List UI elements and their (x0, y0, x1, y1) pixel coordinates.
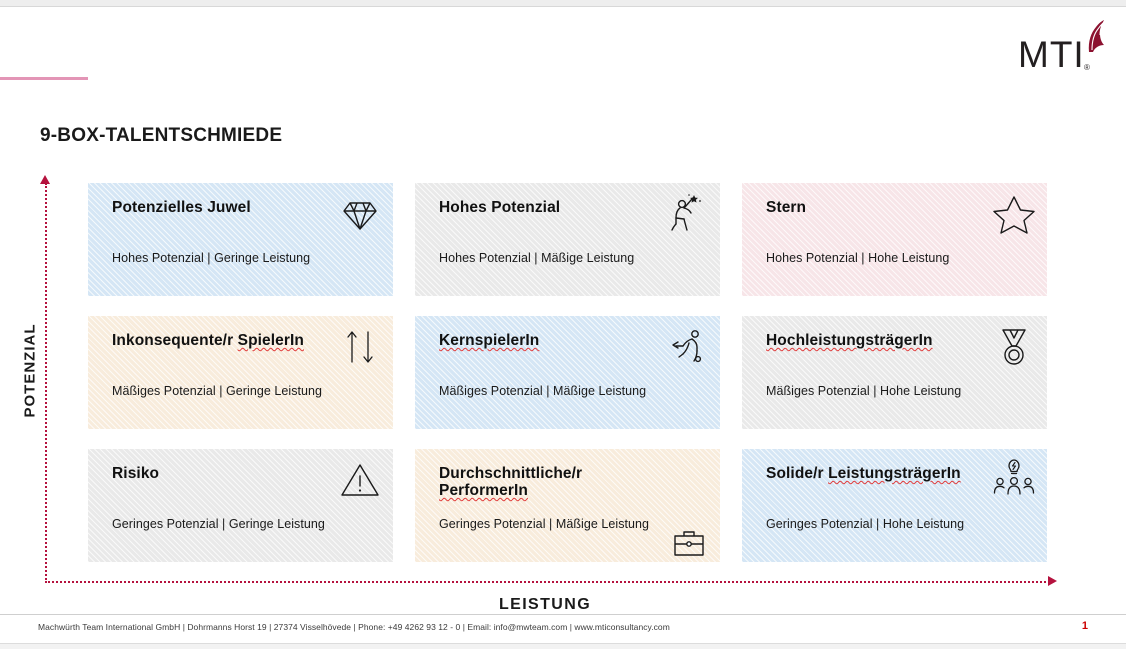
logo-wordmark: MTI (1018, 36, 1085, 73)
box-subtitle: Hohes Potenzial | Geringe Leistung (112, 251, 310, 265)
window-bottom-strip (0, 643, 1126, 649)
window-top-strip (0, 0, 1126, 7)
accent-rule (0, 77, 88, 80)
box-title-misspelled: PerformerIn (439, 482, 528, 499)
box-hohes-potenzial[interactable]: Hohes Potenzial Hohes Potenzial | Mäßige… (415, 183, 720, 296)
x-axis-label: LEISTUNG (0, 596, 1090, 614)
box-subtitle: Geringes Potenzial | Mäßige Leistung (439, 517, 649, 531)
page-title: 9-BOX-TALENTSCHMIEDE (40, 125, 282, 147)
box-title-misspelled: LeistungsträgerIn (828, 465, 961, 482)
box-subtitle: Hohes Potenzial | Mäßige Leistung (439, 251, 634, 265)
box-title-plain: Durchschnittliche/r (439, 465, 582, 482)
box-inkonsequente-spielerin[interactable]: Inkonsequente/r SpielerIn Mäßiges Potenz… (88, 316, 393, 429)
box-subtitle: Geringes Potenzial | Geringe Leistung (112, 517, 325, 531)
star-icon (991, 191, 1037, 237)
box-kernspielerin[interactable]: KernspielerIn Mäßiges Potenzial | Mäßige… (415, 316, 720, 429)
x-axis-arrow-icon (1048, 576, 1057, 586)
box-title: Hohes Potenzial (439, 199, 669, 216)
box-title: Risiko (112, 465, 342, 482)
box-subtitle: Geringes Potenzial | Hohe Leistung (766, 517, 964, 531)
footer-divider (0, 614, 1126, 615)
up-down-arrows-icon (337, 324, 383, 370)
box-subtitle: Mäßiges Potenzial | Mäßige Leistung (439, 384, 646, 398)
box-title: KernspielerIn (439, 332, 669, 349)
y-axis-label: POTENZIAL (22, 321, 39, 421)
box-subtitle: Hohes Potenzial | Hohe Leistung (766, 251, 949, 265)
briefcase-icon (672, 526, 706, 560)
box-potenzielles-juwel[interactable]: Potenzielles Juwel Hohes Potenzial | Ger… (88, 183, 393, 296)
box-title-misspelled: SpielerIn (238, 332, 304, 349)
diamond-icon (337, 191, 383, 237)
logo-swoosh-icon (1082, 19, 1108, 53)
box-stern[interactable]: Stern Hohes Potenzial | Hohe Leistung (742, 183, 1047, 296)
box-durchschnittliche-performerin[interactable]: Durchschnittliche/r PerformerIn Geringes… (415, 449, 720, 562)
nine-box-grid: Potenzielles Juwel Hohes Potenzial | Ger… (88, 183, 1048, 562)
box-subtitle: Mäßiges Potenzial | Geringe Leistung (112, 384, 322, 398)
box-risiko[interactable]: Risiko Geringes Potenzial | Geringe Leis… (88, 449, 393, 562)
box-title: Durchschnittliche/r PerformerIn (439, 465, 669, 499)
team-lightbulb-icon (991, 457, 1037, 503)
box-hochleistungstraegerin[interactable]: HochleistungsträgerIn Mäßiges Potenzial … (742, 316, 1047, 429)
box-title: HochleistungsträgerIn (766, 332, 996, 349)
box-title-misspelled: HochleistungsträgerIn (766, 332, 933, 349)
footer-company-info: Machwürth Team International GmbH | Dohr… (38, 622, 670, 632)
box-title-plain: Solide/r (766, 465, 828, 482)
box-title: Solide/r LeistungsträgerIn (766, 465, 996, 482)
box-title-plain: Inkonsequente/r (112, 332, 238, 349)
mti-logo: MTI ® (1018, 19, 1110, 75)
box-title: Potenzielles Juwel (112, 199, 342, 216)
running-person-icon (664, 324, 710, 370)
box-title: Stern (766, 199, 996, 216)
page-number: 1 (1082, 620, 1088, 632)
box-subtitle: Mäßiges Potenzial | Hohe Leistung (766, 384, 961, 398)
medal-icon (991, 324, 1037, 370)
box-title: Inkonsequente/r SpielerIn (112, 332, 342, 349)
box-solide-leistungstraegerin[interactable]: Solide/r LeistungsträgerIn Geringes Pote… (742, 449, 1047, 562)
warning-triangle-icon (337, 457, 383, 503)
person-reaching-star-icon (664, 191, 710, 237)
y-axis-line (45, 183, 47, 583)
logo-registered-mark: ® (1084, 63, 1090, 72)
x-axis-line (45, 581, 1050, 583)
box-title-misspelled: KernspielerIn (439, 332, 539, 349)
slide-canvas: MTI ® 9-BOX-TALENTSCHMIEDE POTENZIAL LEI… (0, 7, 1126, 607)
